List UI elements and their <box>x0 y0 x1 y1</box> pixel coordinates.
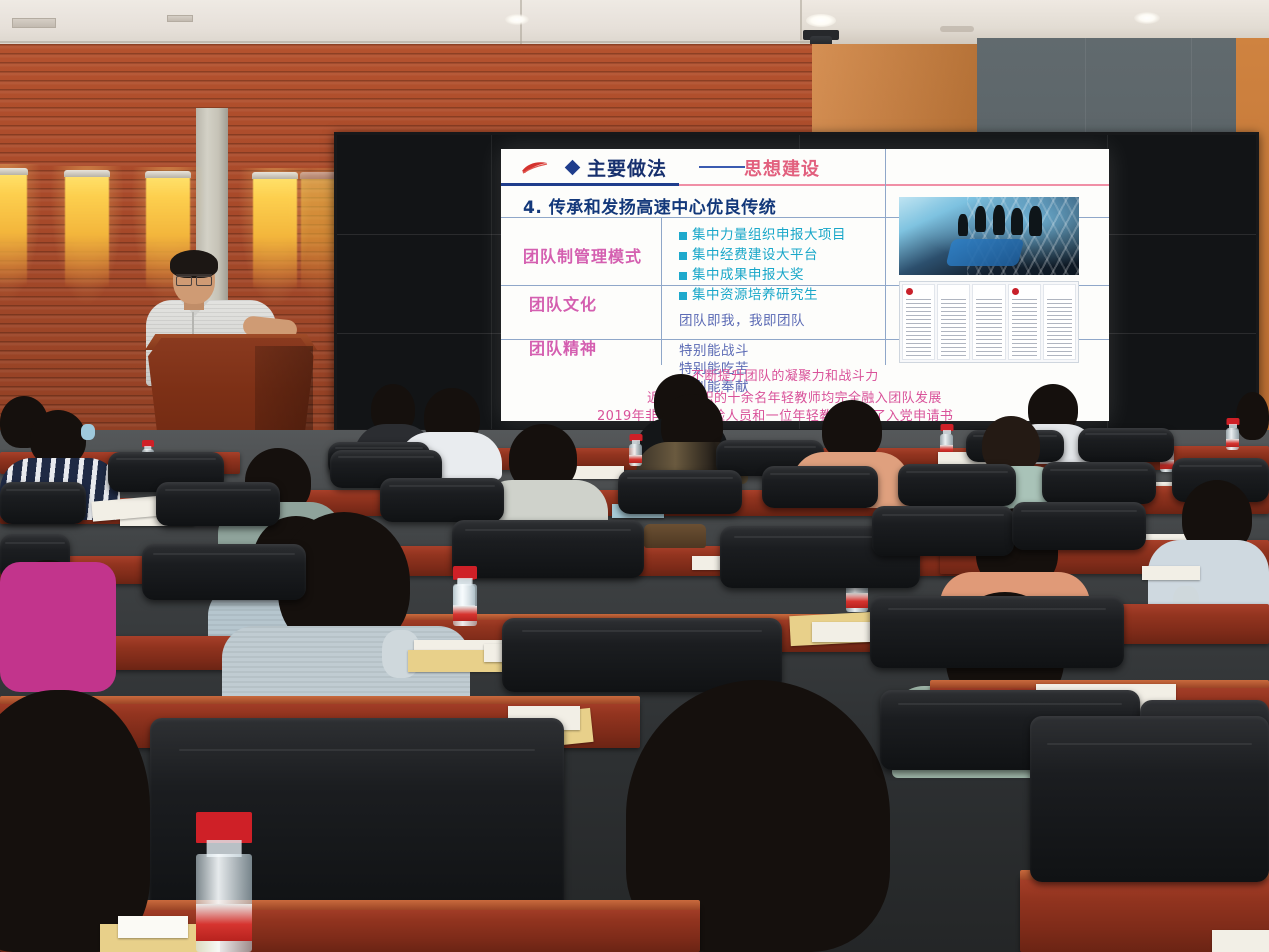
item-text: 集中经费建设大平台 <box>692 247 818 263</box>
table-row-label: 团队精神 <box>529 335 597 359</box>
blue-diamond-bullet-icon <box>565 160 581 176</box>
red-seal-icon <box>906 288 913 295</box>
papers <box>118 916 188 938</box>
chair-back <box>452 520 644 578</box>
audience-head <box>1236 392 1269 440</box>
table-row-label: 团队文化 <box>529 291 597 315</box>
document-scan <box>1008 284 1041 360</box>
slide-header-sub: 思想建设 <box>744 155 820 181</box>
document-scan <box>1043 284 1076 360</box>
document-scan <box>972 284 1005 360</box>
table-cell-item: 集中经费建设大平台 <box>679 243 818 263</box>
chair-back <box>618 470 742 514</box>
conference-room-photo: 主要做法 思想建设 4. 传承和发扬高速中心优良传统 团队制管理模式 团队文化 … <box>0 0 1269 952</box>
led-video-wall: 主要做法 思想建设 4. 传承和发扬高速中心优良传统 团队制管理模式 团队文化 … <box>334 132 1259 432</box>
ceiling-vent <box>940 26 974 32</box>
papers <box>1142 566 1200 580</box>
person-silhouette <box>975 206 986 232</box>
person-silhouette <box>993 205 1005 235</box>
table-cell-item: 集中资源培养研究生 <box>679 283 818 303</box>
header-dash-rule <box>699 166 745 168</box>
wall-sconce <box>0 168 28 286</box>
panel-seam <box>491 135 492 429</box>
water-bottle <box>1226 418 1239 450</box>
table-cell-item: 集中力量组织申报大项目 <box>679 223 846 243</box>
table-column-divider <box>885 149 886 365</box>
person-silhouette <box>1011 208 1023 235</box>
papers <box>812 622 876 642</box>
slide-title: 4. 传承和发扬高速中心优良传统 <box>523 193 776 218</box>
table-cell-item: 团队即我，我即团队 <box>679 309 805 329</box>
glasses-icon <box>176 274 212 282</box>
ceiling-downlight <box>1134 12 1160 24</box>
chair-back <box>872 506 1014 556</box>
red-seal-icon <box>1012 288 1019 295</box>
audience-head <box>0 690 150 952</box>
chair-back <box>1078 428 1174 462</box>
speaker-placket <box>192 312 194 336</box>
water-bottle <box>196 812 252 952</box>
water-bottle <box>453 566 477 626</box>
chair-back <box>0 482 86 524</box>
table-cell-item: 集中成果申报大奖 <box>679 263 804 283</box>
header-rule-left <box>501 183 679 186</box>
wall-sconce <box>64 170 110 288</box>
handbag <box>644 524 706 548</box>
slide-footer-line: 不断提升团队的凝聚力和战斗力 <box>691 365 879 384</box>
ceiling-downlight <box>505 14 529 25</box>
chair-back[interactable] <box>1030 716 1269 882</box>
camera-spotlight <box>806 14 836 27</box>
chair-back <box>156 482 280 526</box>
item-text: 集中成果申报大奖 <box>692 267 804 283</box>
water-bottle <box>629 434 642 466</box>
ceiling-vent <box>12 18 56 28</box>
slide-header: 主要做法 思想建设 <box>501 149 1109 185</box>
chair-back <box>870 596 1124 668</box>
ceiling-seam <box>0 41 812 43</box>
field-work-photo <box>899 197 1079 275</box>
audience-torso <box>0 562 116 692</box>
red-swoosh-icon <box>521 160 549 174</box>
slide-header-main: 主要做法 <box>587 154 667 181</box>
chair-back <box>1012 502 1146 550</box>
chair-back <box>762 466 878 508</box>
document-scans-photo <box>899 281 1079 363</box>
table-column-divider <box>661 217 662 365</box>
person-silhouette <box>1029 206 1042 236</box>
document-scan <box>902 284 935 360</box>
presentation-slide: 主要做法 思想建设 4. 传承和发扬高速中心优良传统 团队制管理模式 团队文化 … <box>501 149 1109 421</box>
document-scan <box>937 284 970 360</box>
chair-back <box>898 464 1016 506</box>
item-text: 集中力量组织申报大项目 <box>692 227 846 243</box>
blue-tarp <box>946 239 1025 266</box>
table-cell-item: 特别能战斗 <box>679 339 749 359</box>
header-rule-right <box>679 184 1109 186</box>
table-row-label: 团队制管理模式 <box>523 243 642 267</box>
item-text: 集中资源培养研究生 <box>692 287 818 303</box>
screen-surface: 主要做法 思想建设 4. 传承和发扬高速中心优良传统 团队制管理模式 团队文化 … <box>337 135 1256 429</box>
person-silhouette <box>958 214 968 236</box>
audience-head <box>822 400 882 460</box>
slide-footer-line: 2019年非事业编试验人员和一位年轻教师提交了入党申请书 <box>597 405 953 421</box>
ceiling-seam <box>800 0 802 40</box>
face-mask <box>81 424 95 440</box>
chair-back <box>1042 462 1156 504</box>
chair-back <box>380 478 504 522</box>
wall-sconce <box>252 172 298 290</box>
papers <box>1212 930 1269 952</box>
chair-back <box>142 544 306 600</box>
ceiling-vent <box>167 15 193 22</box>
